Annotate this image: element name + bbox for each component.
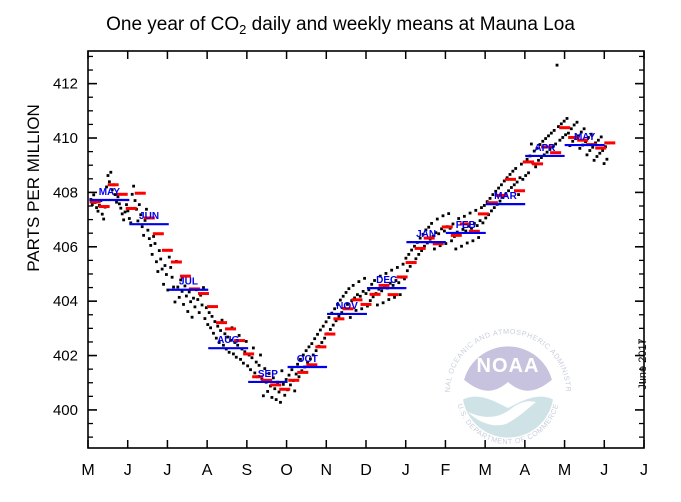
y-axis-ticks [88,56,644,437]
data-layer [89,64,615,404]
x-tick-label: J [163,462,171,479]
month-label-sep: SEP [258,369,278,380]
y-tick-label: 412 [53,76,78,93]
month-label-dec: DEC [376,275,397,286]
y-tick-label: 400 [53,402,78,419]
x-tick-label: J [600,462,608,479]
chart-page: One year of CO2 daily and weekly means a… [0,0,681,502]
y-tick-label: 402 [53,348,78,365]
x-tick-label: M [81,462,94,479]
y-tick-label: 408 [53,184,78,201]
month-label-may: MAY [574,132,596,143]
x-tick-label: D [360,462,372,479]
month-label-may: MAY [99,187,121,198]
month-label-mar: MAR [494,191,518,202]
month-label-jul: JUL [179,277,198,288]
noaa-acronym: NOAA [477,355,540,377]
y-axis-tick-labels: 400402404406408410412 [53,76,78,419]
x-tick-label: F [441,462,451,479]
month-label-apr: APR [534,143,556,154]
month-label-feb: FEB [456,220,476,231]
month-label-aug: AUG [217,335,239,346]
x-tick-label: M [558,462,571,479]
x-tick-label: S [242,462,253,479]
y-tick-label: 406 [53,239,78,256]
x-tick-label: J [640,462,648,479]
x-axis-tick-labels: MJJASONDJFMAMJJ [81,462,648,479]
month-label-jun: JUN [139,211,159,222]
x-tick-label: J [402,462,410,479]
plot-canvas: NATIONAL OCEANIC AND ATMOSPHERIC ADMINIS… [0,0,681,502]
x-tick-label: N [321,462,333,479]
x-tick-label: A [520,462,531,479]
x-tick-label: A [202,462,213,479]
x-tick-label: M [478,462,491,479]
month-annotations: MAYJUNJULAUGSEPOCTNOVDECJANFEBMARAPRMAY [99,132,596,380]
y-tick-label: 410 [53,130,78,147]
y-tick-label: 404 [53,293,78,310]
x-tick-label: J [124,462,132,479]
month-label-nov: NOV [336,301,358,312]
month-label-jan: JAN [416,229,436,240]
monthly-means-lines [89,145,604,382]
x-tick-label: O [280,462,292,479]
month-label-oct: OCT [297,354,318,365]
